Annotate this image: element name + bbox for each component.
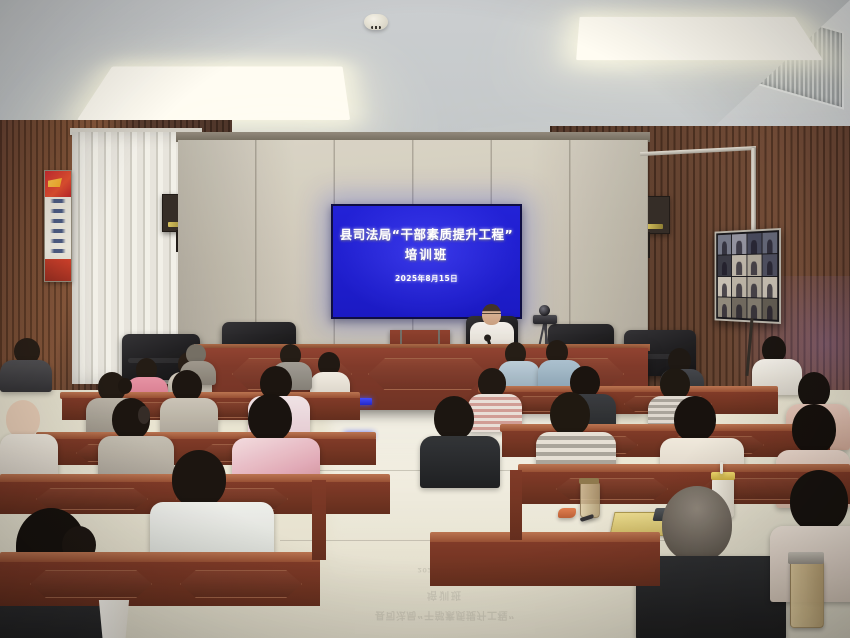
banner-bottom-graphic — [45, 259, 71, 281]
attendee-head — [792, 404, 836, 454]
video-participant-tile — [762, 254, 777, 275]
screen-title-line2: 培训班 — [333, 244, 520, 263]
bench-row-4-right — [430, 542, 660, 586]
camera-lens-icon — [539, 305, 550, 316]
video-participant-tile — [718, 235, 731, 255]
bench-diamond-trim — [30, 570, 152, 598]
attendee-head — [6, 400, 40, 438]
head-table-diamond-trim — [368, 358, 489, 390]
bottle-straw — [720, 462, 723, 474]
attendee-head — [662, 486, 732, 562]
bench-diamond-trim — [180, 570, 302, 598]
bench-aisle-post — [312, 480, 326, 560]
bench-diamond-trim — [36, 488, 148, 510]
attendee-hair-clip — [138, 406, 150, 424]
attendee-head — [790, 470, 848, 532]
video-participant-tile — [747, 276, 761, 297]
projection-screen-surface: 县司法局“干部素质提升工程” 培训班 2025年8月15日 — [333, 206, 520, 317]
banner-text-block — [45, 199, 71, 259]
video-participant-tile — [747, 255, 761, 276]
video-participant-tile — [732, 234, 746, 255]
wall-banner-poster — [44, 170, 72, 282]
smoke-detector-icon — [364, 14, 388, 30]
video-conference-grid — [718, 232, 777, 320]
reflection-title-line1: 县司法局“干部素质提升工程” — [355, 609, 535, 624]
speaker-cable-right — [648, 232, 650, 258]
attendee-hair-bun — [118, 378, 132, 394]
ceiling-light-2 — [576, 17, 823, 60]
video-camera-icon — [533, 315, 557, 324]
projection-screen: 县司法局“干部素质提升工程” 培训班 2025年8月15日 — [331, 204, 522, 319]
glass-tea-jar — [580, 482, 600, 518]
video-participant-tile — [732, 276, 746, 296]
video-participant-tile — [762, 298, 777, 320]
screen-title-line1: 县司法局“干部素质提升工程” — [333, 224, 520, 243]
bench-aisle-post — [510, 470, 522, 540]
bottle-cap — [711, 472, 735, 480]
video-participant-tile — [732, 255, 746, 275]
video-participant-tile — [762, 232, 777, 254]
video-participant-tile — [762, 276, 777, 297]
banner-flag-graphic — [45, 171, 71, 197]
attendee-head — [550, 392, 590, 436]
desk-ornament — [558, 508, 576, 518]
attendee-head — [434, 396, 474, 440]
video-participant-tile — [747, 233, 761, 254]
video-conference-tv — [715, 228, 781, 324]
ceiling-light-1 — [77, 67, 350, 120]
jar-lid — [579, 478, 599, 484]
flask-cap — [788, 552, 824, 564]
presenter-glasses-icon — [482, 313, 501, 318]
attendee-torso — [0, 360, 52, 392]
tv-mount-pole — [751, 148, 756, 232]
screen-date: 2025年8月15日 — [333, 273, 520, 284]
video-participant-tile — [747, 298, 761, 319]
attendee-head — [674, 396, 716, 442]
attendee-head — [172, 450, 226, 508]
video-participant-tile — [718, 255, 731, 275]
attendee-head — [798, 372, 830, 408]
reflection-title-line2: 培训班 — [355, 589, 535, 604]
attendee-torso — [0, 434, 58, 478]
video-participant-tile — [718, 297, 731, 317]
vacuum-flask — [790, 560, 824, 628]
attendee-torso — [420, 436, 500, 488]
bench-diamond-trim — [556, 478, 668, 500]
video-participant-tile — [718, 276, 731, 296]
conference-room-photo: 县司法局“干部素质提升工程” 培训班 2025年8月15日 — [0, 0, 850, 638]
attendee-head — [248, 394, 292, 442]
video-participant-tile — [732, 297, 746, 318]
